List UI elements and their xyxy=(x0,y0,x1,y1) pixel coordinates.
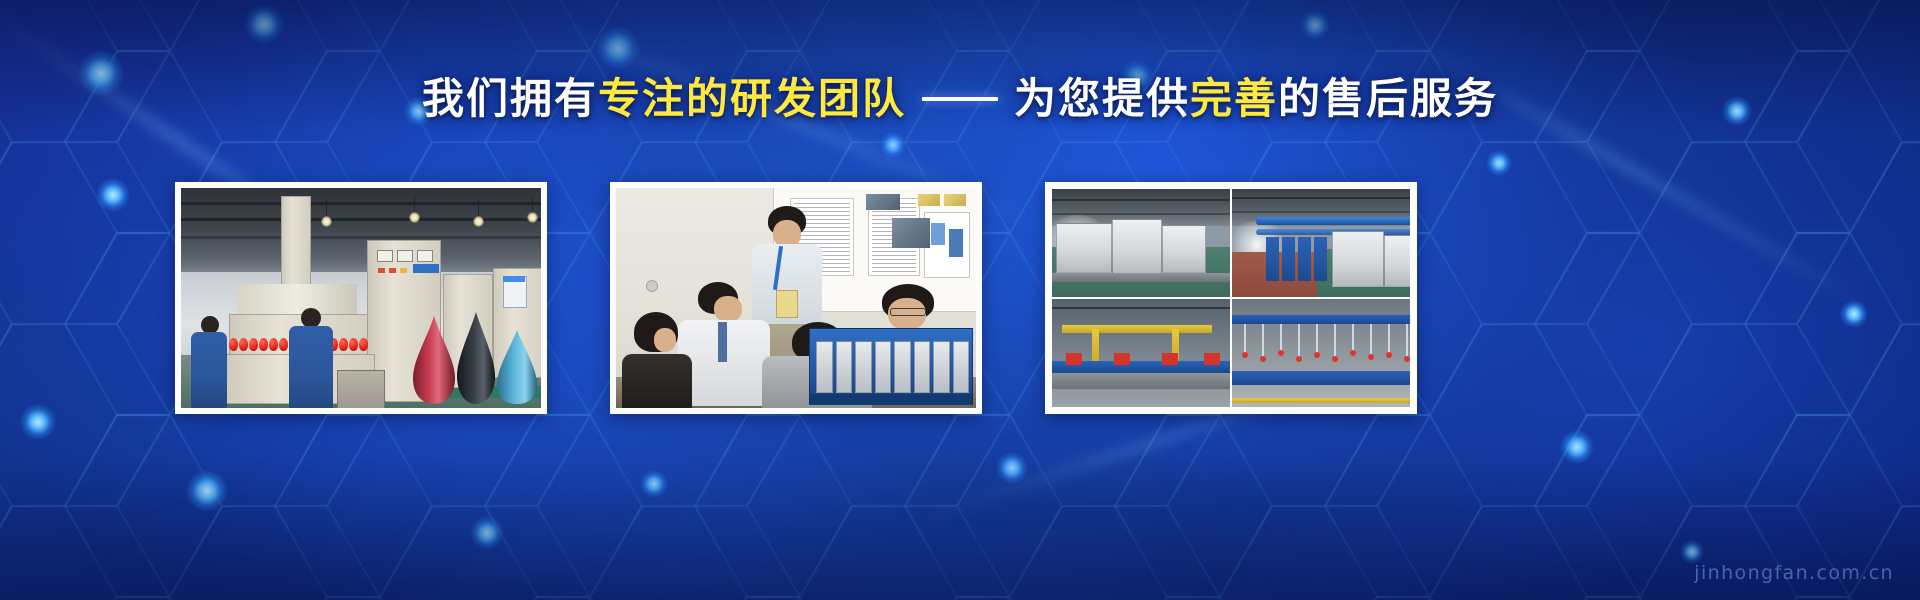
photo-panel-team-meeting[interactable] xyxy=(610,182,982,414)
red-product xyxy=(259,338,268,351)
blue-pipe-run xyxy=(1256,217,1411,225)
cabinet-indicator xyxy=(389,268,396,273)
poster-diagram xyxy=(924,212,970,278)
workshop-photo-oven-line xyxy=(1051,188,1231,298)
plastic-crate xyxy=(337,370,385,408)
overhead-rail xyxy=(1232,315,1410,324)
red-product xyxy=(349,338,358,351)
promo-banner: 我们拥有专注的研发团队为您提供完善的售后服务 xyxy=(0,0,1920,600)
product-hanger xyxy=(1244,324,1246,354)
cabinet-gauge xyxy=(397,250,413,262)
roof-truss xyxy=(181,218,541,221)
cabinet-gauge xyxy=(417,250,433,262)
red-product xyxy=(269,338,278,351)
conveyor-frame xyxy=(1052,373,1230,389)
conveyor-base xyxy=(1052,273,1230,282)
rack-part xyxy=(1066,353,1082,365)
equipment-door xyxy=(1282,237,1295,281)
equipment-door xyxy=(1314,237,1327,281)
ceiling-lamp xyxy=(321,216,332,227)
poster-badge-tile xyxy=(944,194,966,206)
machine-placard-header xyxy=(503,276,525,282)
headline-part-1: 我们拥有 xyxy=(422,75,598,122)
rack-part xyxy=(1162,353,1178,365)
machine-cabinet xyxy=(914,341,931,392)
oven-cabinet xyxy=(1162,225,1206,273)
cabinet-indicator xyxy=(378,268,385,273)
poster-badge-tile xyxy=(918,194,940,206)
product-hanger xyxy=(1370,324,1372,356)
headline-highlight-2: 完善 xyxy=(1190,75,1278,122)
photo-panel-production-line[interactable] xyxy=(175,182,547,414)
red-product xyxy=(359,338,368,351)
vase-product-red xyxy=(411,314,457,406)
diagram-shape xyxy=(931,223,945,245)
equipment-door xyxy=(1266,237,1279,281)
workshop-photo-conveyor xyxy=(1051,298,1231,408)
equipment-door xyxy=(1298,237,1311,281)
machine-cabinet xyxy=(875,341,892,392)
product-hanger xyxy=(1334,324,1336,358)
machine-base-rail xyxy=(810,394,972,404)
site-watermark: jinhongfan.com.cn xyxy=(1694,562,1894,584)
headline-highlight-1: 专注的研发团队 xyxy=(598,75,906,122)
workshop-photo-blue-piping xyxy=(1231,188,1411,298)
machine-cabinet xyxy=(816,341,833,392)
red-product xyxy=(279,338,288,351)
lower-conveyor-rail xyxy=(1232,371,1410,385)
vase-product-dark xyxy=(455,310,497,406)
ceiling-lamp xyxy=(527,212,538,223)
ceiling-lamp xyxy=(473,216,484,227)
worker-left xyxy=(191,332,227,408)
processing-unit xyxy=(1332,231,1384,287)
photo-panel-workshop-composite[interactable] xyxy=(1045,182,1417,414)
ceiling-lamp xyxy=(409,212,420,223)
red-product xyxy=(339,338,348,351)
machine-cabinet xyxy=(894,341,911,392)
cabinet-indicator xyxy=(400,268,407,273)
page-title: 我们拥有专注的研发团队为您提供完善的售后服务 xyxy=(0,78,1920,120)
roof-beam xyxy=(1052,307,1230,309)
person-glasses xyxy=(890,308,926,316)
poster-photo-tile xyxy=(892,218,930,248)
roof-beam xyxy=(1052,199,1230,201)
processing-unit xyxy=(1384,235,1411,287)
cabinet-label xyxy=(413,264,439,273)
product-hanger xyxy=(1280,324,1282,352)
oven-cabinet xyxy=(1112,219,1162,275)
diagram-shape xyxy=(949,229,963,257)
product-hanger xyxy=(1388,324,1390,354)
red-product xyxy=(229,338,238,351)
machine-cabinet xyxy=(953,341,970,392)
product-hanger xyxy=(1298,324,1300,358)
poster-photo-tile xyxy=(866,194,900,210)
safety-marking xyxy=(1232,398,1410,403)
photo-production-line xyxy=(181,188,541,408)
headline-part-5: 的售后服务 xyxy=(1278,75,1498,122)
yellow-gantry xyxy=(1062,325,1212,333)
workshop-photo-hanger-line xyxy=(1231,298,1411,408)
product-hanger xyxy=(1406,324,1408,358)
rack-part xyxy=(1114,353,1130,365)
photo-team-meeting xyxy=(616,188,976,408)
roof-beam xyxy=(1232,211,1410,213)
photo-panel-group xyxy=(0,182,1920,414)
wall-outlet xyxy=(646,280,658,292)
machine-cabinet xyxy=(933,341,950,392)
person-face xyxy=(654,328,676,352)
machine-cabinet xyxy=(836,341,853,392)
vase-product-blue xyxy=(495,328,539,406)
person-seated-far-left xyxy=(622,312,694,408)
headline-part-3: 为您提供 xyxy=(1014,75,1190,122)
product-hanger xyxy=(1316,324,1318,354)
person-badge xyxy=(776,290,798,318)
roof-truss xyxy=(181,202,541,205)
red-product xyxy=(249,338,258,351)
person-jacket xyxy=(622,354,692,408)
person-tie xyxy=(718,322,727,362)
worker-head xyxy=(301,308,321,328)
cabinet-gauge xyxy=(377,250,393,262)
product-hanger xyxy=(1262,324,1264,358)
oven-cabinet xyxy=(1056,223,1112,273)
headline-dash-divider xyxy=(922,97,998,101)
machinery-inset xyxy=(809,328,973,405)
roof-beam xyxy=(1232,197,1410,199)
machine-cabinet xyxy=(855,341,872,392)
photo-workshop-composite xyxy=(1051,188,1411,408)
roof-truss xyxy=(181,236,541,239)
rack-part xyxy=(1204,353,1220,365)
person-face xyxy=(714,296,742,322)
product-hanger xyxy=(1352,324,1354,352)
red-product xyxy=(239,338,248,351)
worker-right xyxy=(289,326,333,408)
